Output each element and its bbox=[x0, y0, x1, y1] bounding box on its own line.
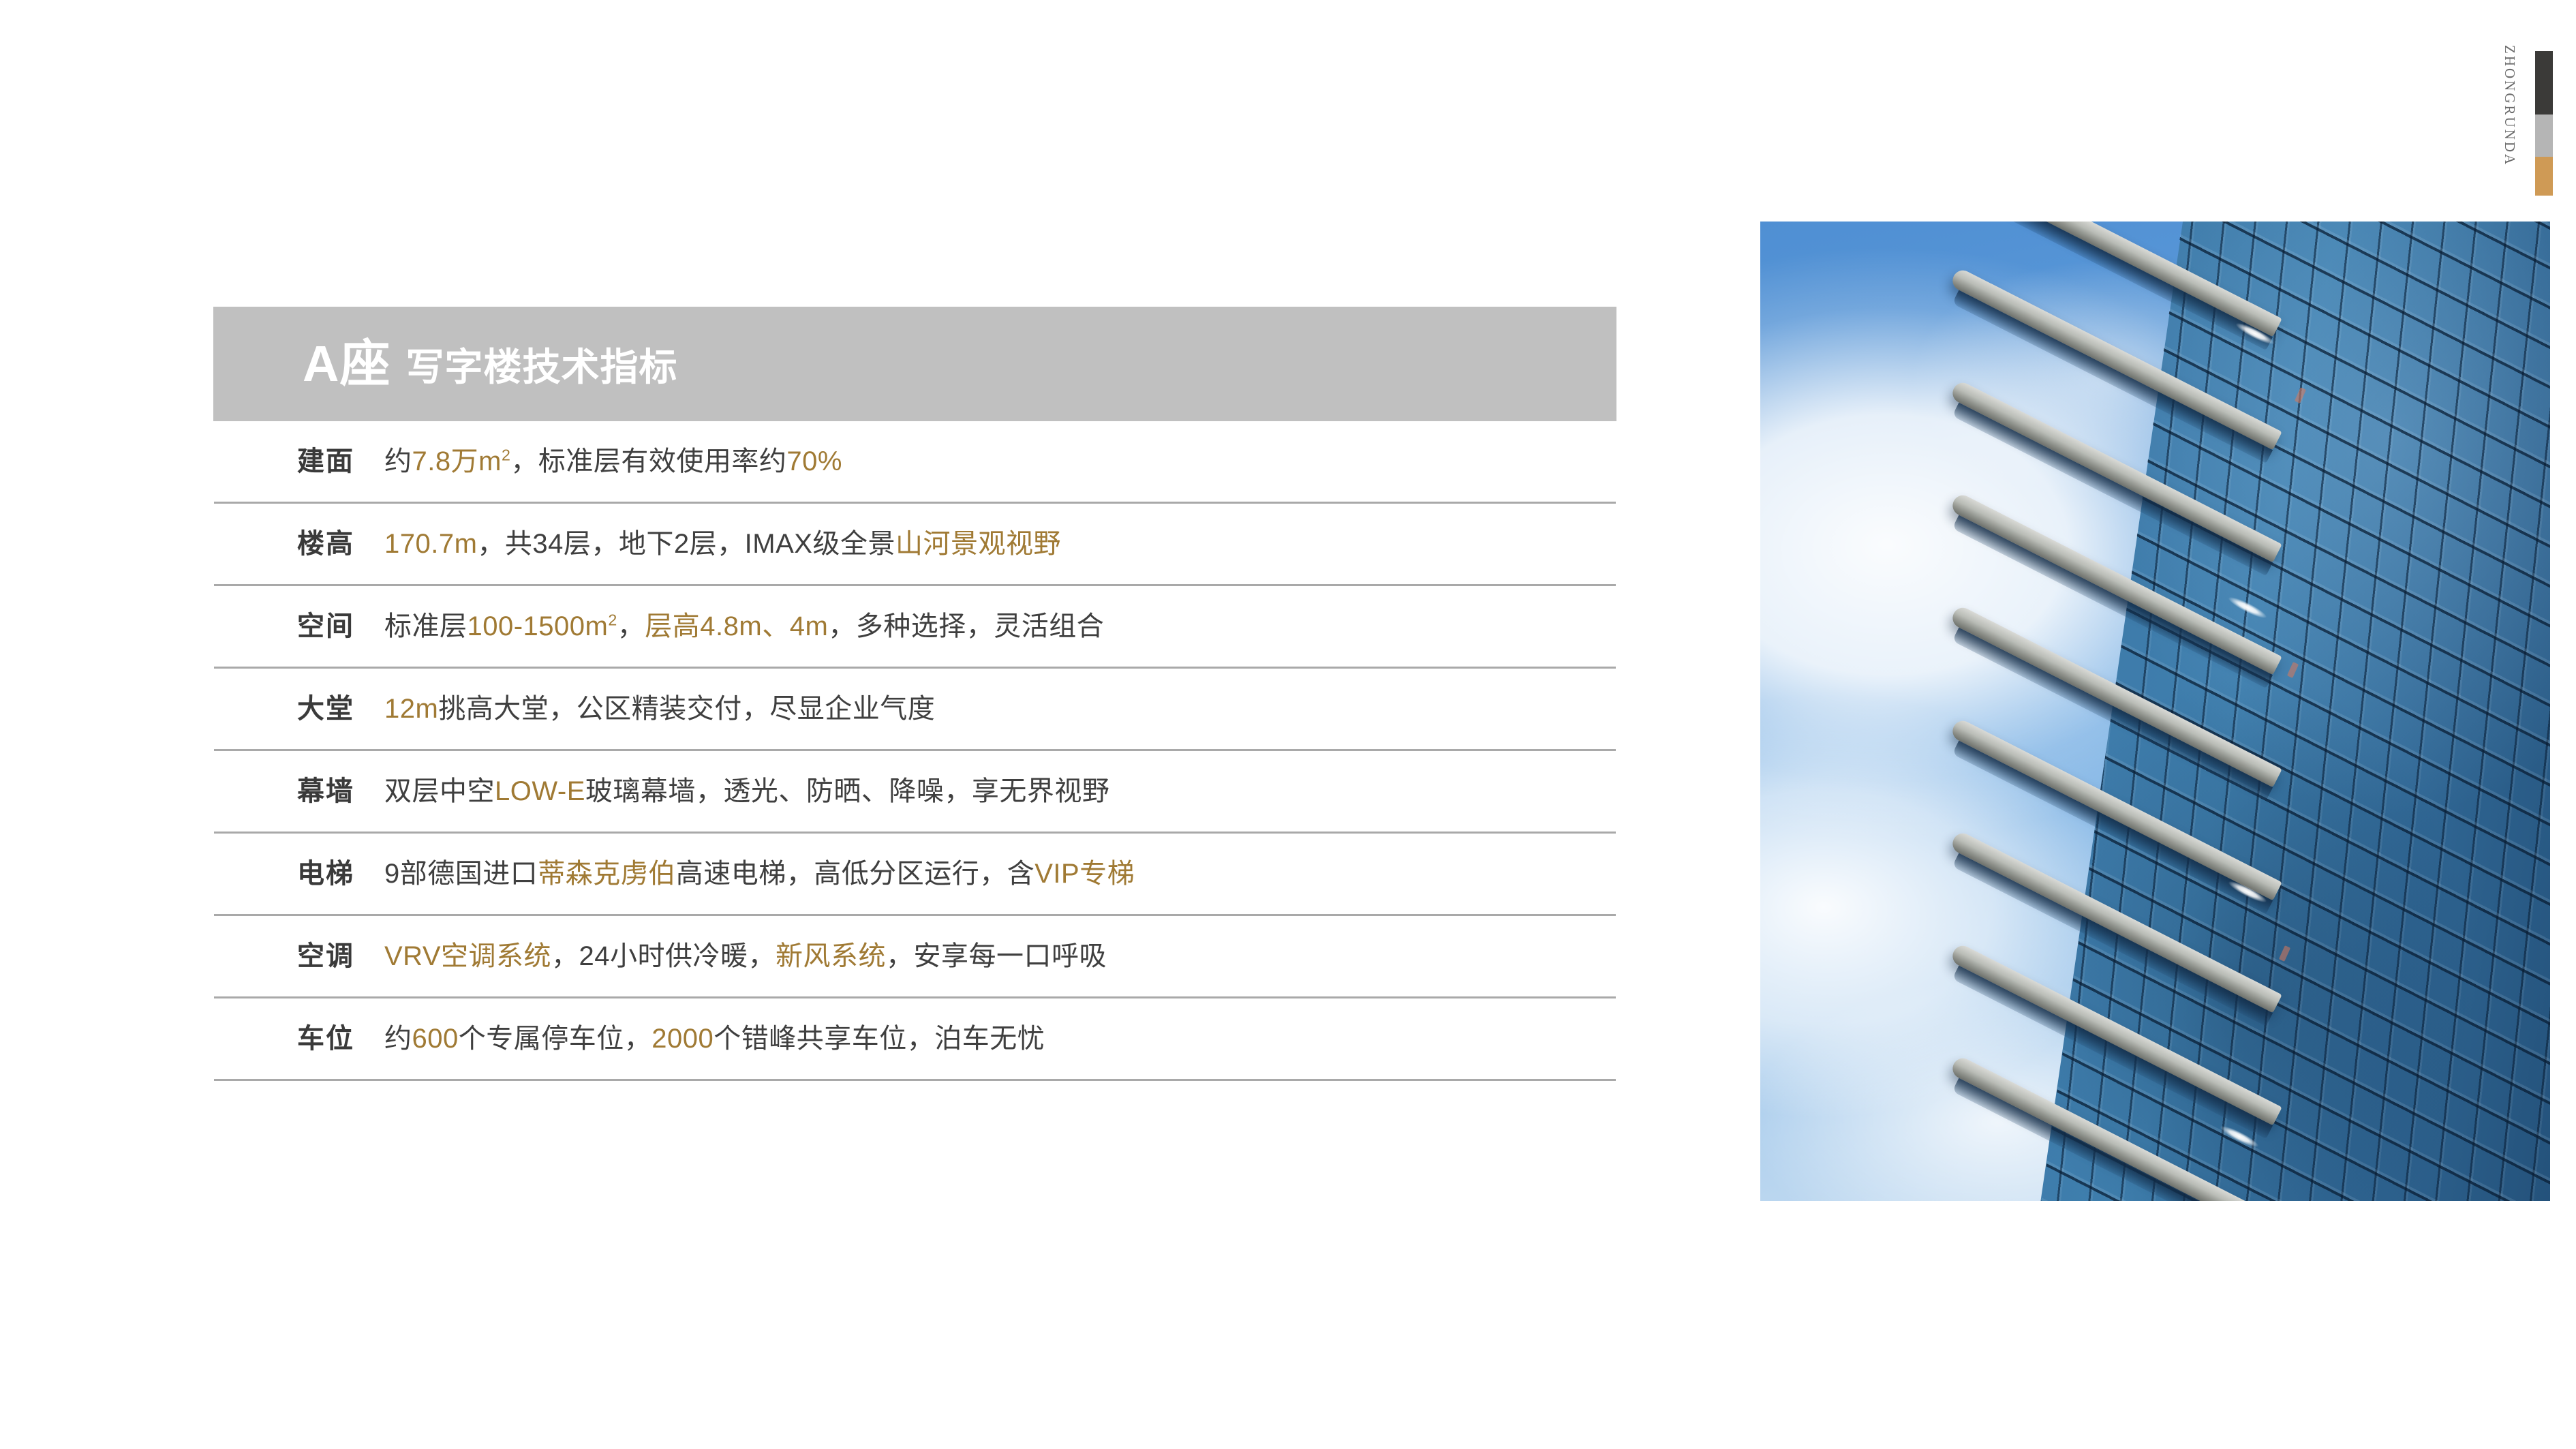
spec-value-highlight: 7.8万m bbox=[412, 446, 502, 476]
brand-bar-segment-gold bbox=[2535, 157, 2553, 196]
spec-value-highlight: 层高4.8m、4m bbox=[645, 611, 828, 641]
spec-value-superscript: 2 bbox=[502, 446, 510, 464]
spec-row: 建面约7.8万m2，标准层有效使用率约70% bbox=[214, 421, 1616, 504]
spec-value-text: 约 bbox=[384, 1024, 412, 1054]
spec-value-text: 挑高大堂，公区精装交付，尽显企业气度 bbox=[438, 694, 935, 724]
spec-row-value: 12m挑高大堂，公区精装交付，尽显企业气度 bbox=[384, 694, 1616, 724]
spec-value-text: 9部德国进口 bbox=[384, 859, 538, 889]
spec-value-superscript: 2 bbox=[608, 611, 617, 629]
spec-row-value: 标准层100-1500m2，层高4.8m、4m，多种选择，灵活组合 bbox=[384, 611, 1616, 641]
spec-value-text: 玻璃幕墙，透光、防晒、降噪，享无界视野 bbox=[585, 776, 1110, 806]
spec-row: 电梯9部德国进口蒂森克虏伯高速电梯，高低分区运行，含VIP专梯 bbox=[214, 834, 1616, 916]
spec-row-value: VRV空调系统，24小时供冷暖，新风系统，安享每一口呼吸 bbox=[384, 941, 1616, 971]
spec-row-label: 电梯 bbox=[214, 860, 384, 887]
spec-value-highlight: 600 bbox=[412, 1024, 459, 1054]
spec-row: 车位约600个专属停车位，2000个错峰共享车位，泊车无忧 bbox=[214, 998, 1616, 1081]
spec-value-text: 个错峰共享车位，泊车无忧 bbox=[714, 1024, 1045, 1054]
spec-row: 幕墙双层中空LOW-E玻璃幕墙，透光、防晒、降噪，享无界视野 bbox=[214, 751, 1616, 834]
section-title-bar: A座 写字楼技术指标 bbox=[213, 307, 1616, 421]
sunshade-fins bbox=[1760, 222, 2550, 1201]
title-subtitle: 写字楼技术指标 bbox=[405, 348, 677, 386]
spec-value-highlight: 70% bbox=[786, 446, 842, 476]
spec-row: 空调VRV空调系统，24小时供冷暖，新风系统，安享每一口呼吸 bbox=[214, 916, 1616, 998]
spec-value-text: 双层中空 bbox=[384, 776, 495, 806]
spec-row-label: 建面 bbox=[214, 448, 384, 475]
spec-table: 建面约7.8万m2，标准层有效使用率约70%楼高170.7m，共34层，地下2层… bbox=[214, 421, 1616, 1081]
spec-row-value: 170.7m，共34层，地下2层，IMAX级全景山河景观视野 bbox=[384, 529, 1616, 559]
spec-row-label: 车位 bbox=[214, 1025, 384, 1052]
spec-row-label: 空调 bbox=[214, 943, 384, 970]
brand-mark: ZHONGRUNDA bbox=[2502, 12, 2571, 210]
spec-row-value: 9部德国进口蒂森克虏伯高速电梯，高低分区运行，含VIP专梯 bbox=[384, 859, 1616, 889]
brand-bar-segment-dark bbox=[2535, 51, 2553, 115]
fin-light-glint bbox=[2226, 594, 2268, 622]
spec-value-text: ，24小时供冷暖， bbox=[551, 941, 776, 971]
spec-value-highlight: 山河景观视野 bbox=[895, 529, 1061, 559]
spec-row: 楼高170.7m，共34层，地下2层，IMAX级全景山河景观视野 bbox=[214, 504, 1616, 586]
spec-value-highlight: 100-1500m bbox=[467, 611, 609, 641]
spec-value-text: 约 bbox=[384, 446, 412, 476]
facade-reflection-speck bbox=[2286, 662, 2298, 678]
spec-value-highlight: 170.7m bbox=[384, 529, 477, 559]
spec-value-text: ， bbox=[617, 611, 645, 641]
spec-row-value: 双层中空LOW-E玻璃幕墙，透光、防晒、降噪，享无界视野 bbox=[384, 776, 1616, 806]
spec-value-text: ，多种选择，灵活组合 bbox=[828, 611, 1104, 641]
brand-vertical-text: ZHONGRUNDA bbox=[2502, 45, 2517, 166]
brand-bar-segment-gray bbox=[2535, 115, 2553, 156]
facade-reflection-speck bbox=[2279, 945, 2290, 962]
spec-value-highlight: VIP专梯 bbox=[1034, 859, 1135, 889]
spec-row: 大堂12m挑高大堂，公区精装交付，尽显企业气度 bbox=[214, 669, 1616, 751]
spec-value-text: ，共34层，地下2层，IMAX级全景 bbox=[477, 529, 895, 559]
spec-row-label: 大堂 bbox=[214, 695, 384, 722]
spec-row-label: 空间 bbox=[214, 613, 384, 640]
spec-value-highlight: 蒂森克虏伯 bbox=[538, 859, 676, 889]
spec-value-text: ，安享每一口呼吸 bbox=[886, 941, 1107, 971]
spec-value-highlight: 12m bbox=[384, 694, 438, 724]
spec-row-value: 约7.8万m2，标准层有效使用率约70% bbox=[384, 446, 1616, 476]
spec-value-text: 个专属停车位， bbox=[459, 1024, 652, 1054]
spec-value-highlight: VRV空调系统 bbox=[384, 941, 551, 971]
title-building-name: A座 bbox=[303, 339, 390, 389]
building-photo bbox=[1760, 222, 2550, 1201]
facade-reflection-speck bbox=[2295, 387, 2306, 403]
spec-row: 空间标准层100-1500m2，层高4.8m、4m，多种选择，灵活组合 bbox=[214, 586, 1616, 669]
spec-value-text: 高速电梯，高低分区运行，含 bbox=[676, 859, 1035, 889]
brand-color-bar bbox=[2535, 51, 2553, 196]
spec-row-label: 幕墙 bbox=[214, 778, 384, 805]
spec-value-highlight: 2000 bbox=[651, 1024, 714, 1054]
spec-row-value: 约600个专属停车位，2000个错峰共享车位，泊车无忧 bbox=[384, 1024, 1616, 1054]
spec-value-highlight: LOW-E bbox=[495, 776, 585, 806]
spec-value-highlight: 新风系统 bbox=[776, 941, 886, 971]
spec-value-text: ，标准层有效使用率约 bbox=[510, 446, 786, 476]
spec-row-label: 楼高 bbox=[214, 530, 384, 558]
spec-value-text: 标准层 bbox=[384, 611, 467, 641]
